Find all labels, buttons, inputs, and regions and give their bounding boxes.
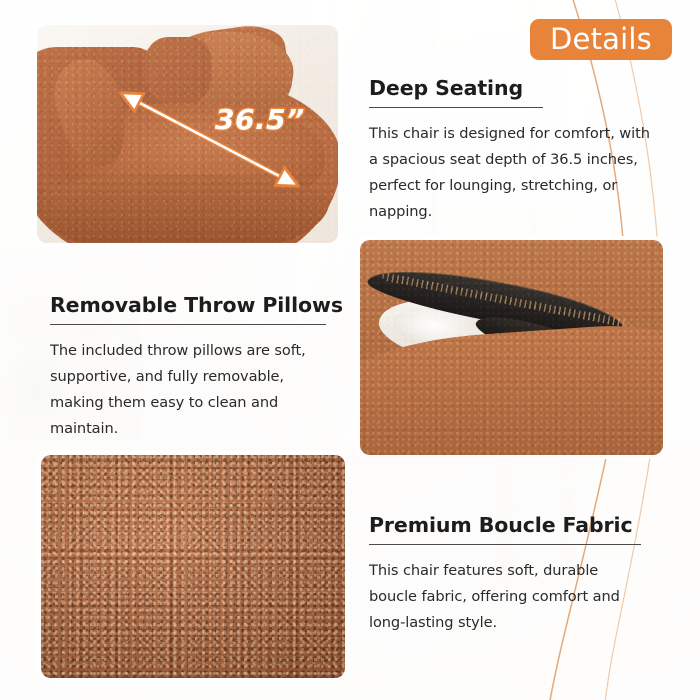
fabric-body-line: long-lasting style. — [369, 610, 669, 636]
premium-boucle-fabric-heading: Premium Boucle Fabric — [369, 513, 669, 537]
chair-dimension-photo: 36.5” 36.5” — [37, 25, 338, 243]
fabric-shading — [41, 455, 345, 678]
section-deep-seating: Deep Seating This chair is designed for … — [369, 76, 675, 225]
deep-seating-body-line: a spacious seat depth of 36.5 inches, — [369, 147, 675, 173]
pillows-body-line: maintain. — [50, 416, 350, 442]
premium-boucle-fabric-rule — [369, 544, 641, 545]
seat-depth-label: 36.5” — [215, 103, 305, 136]
removable-throw-pillows-body: The included throw pillows are soft, sup… — [50, 338, 350, 442]
fabric-swatch-photo — [41, 455, 345, 678]
deep-seating-rule — [369, 107, 543, 108]
removable-throw-pillows-rule — [50, 324, 326, 325]
zipper-detail-photo — [360, 240, 663, 455]
deep-seating-body-line: This chair is designed for comfort, with — [369, 121, 675, 147]
pillows-body-line: supportive, and fully removable, — [50, 364, 350, 390]
fabric-body-line: This chair features soft, durable — [369, 558, 669, 584]
deep-seating-body: This chair is designed for comfort, with… — [369, 121, 675, 225]
boucle-texture-overlay-zipper — [360, 240, 663, 455]
details-badge-label: Details — [550, 25, 652, 54]
section-premium-boucle-fabric: Premium Boucle Fabric This chair feature… — [369, 513, 669, 636]
pillows-body-line: making them easy to clean and — [50, 390, 350, 416]
removable-throw-pillows-heading: Removable Throw Pillows — [50, 293, 350, 317]
details-badge: Details — [530, 19, 672, 60]
section-removable-throw-pillows: Removable Throw Pillows The included thr… — [50, 293, 350, 442]
pillows-body-line: The included throw pillows are soft, — [50, 338, 350, 364]
premium-boucle-fabric-body: This chair features soft, durable boucle… — [369, 558, 669, 636]
fabric-body-line: boucle fabric, offering comfort and — [369, 584, 669, 610]
deep-seating-body-line: perfect for lounging, stretching, or — [369, 173, 675, 199]
deep-seating-body-line: napping. — [369, 199, 675, 225]
deep-seating-heading: Deep Seating — [369, 76, 675, 100]
